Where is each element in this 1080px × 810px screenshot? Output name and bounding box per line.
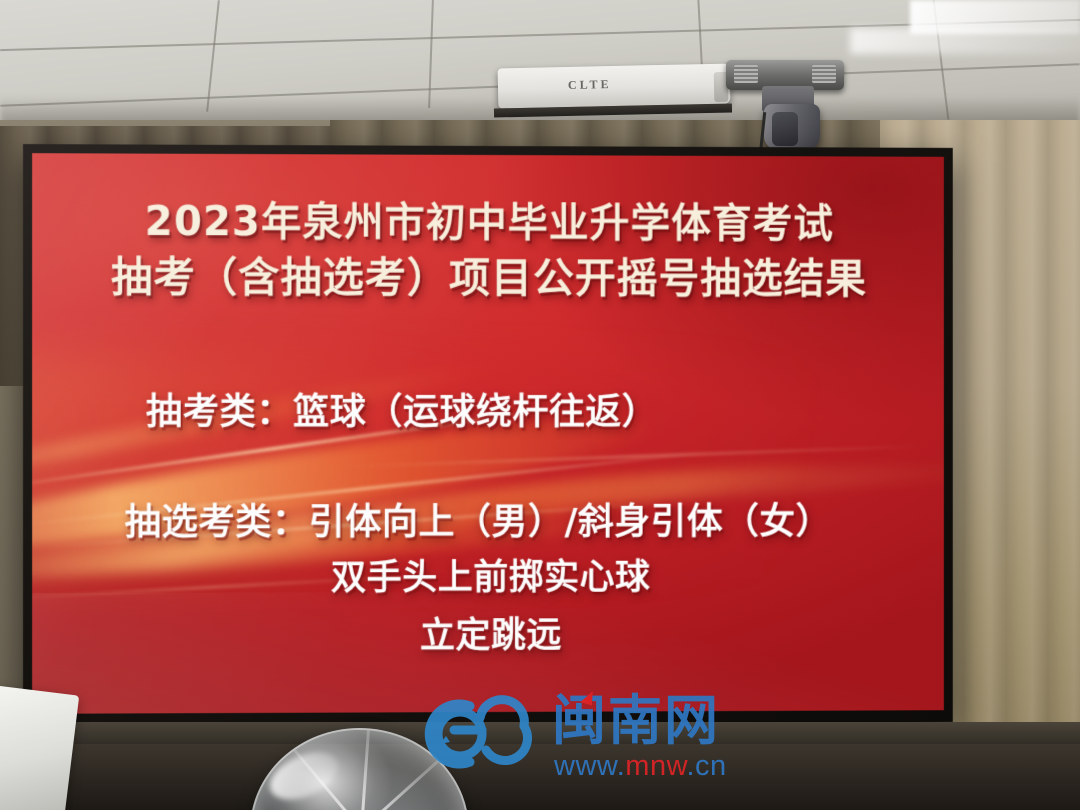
slide-section-chou-xuan-kao: 抽选考类：引体向上（男）/斜身引体（女） [32, 493, 944, 546]
watermark-url-suffix: .cn [686, 750, 726, 782]
slide-title-line-1: 2023年泉州市初中毕业升学体育考试 [32, 197, 944, 249]
slide-section-shi-xin-qiu: 双手头上前掷实心球 [32, 548, 944, 601]
display-screen: 2023年泉州市初中毕业升学体育考试 抽考（含抽选考）项目公开摇号抽选结果 抽考… [32, 153, 944, 714]
watermark-site-name: 闽南网 [552, 694, 720, 748]
drum-rib [360, 728, 371, 810]
slide-title: 2023年泉州市初中毕业升学体育考试 抽考（含抽选考）项目公开摇号抽选结果 [32, 197, 944, 303]
slide-content: 2023年泉州市初中毕业升学体育考试 抽考（含抽选考）项目公开摇号抽选结果 抽考… [32, 153, 944, 714]
watermark-url-prefix: www. [554, 750, 625, 782]
watermark: 闽南网 www.mnw.cn [424, 690, 724, 802]
foreground-paper-object [0, 685, 79, 810]
camera-vent-icon [812, 65, 836, 83]
slide-title-line-2: 抽考（含抽选考）项目公开摇号抽选结果 [32, 252, 944, 304]
photo-canvas: CLTE 2023年泉州市初中毕业升学 [0, 0, 1080, 810]
slide-section-chou-kao: 抽考类：篮球（运球绕杆往返） [32, 383, 944, 435]
watermark-url-brand: mnw [625, 750, 686, 782]
ceiling-light [850, 28, 1080, 54]
slide-section-li-ding-tiao-yuan: 立定跳远 [32, 606, 944, 660]
mnw-swirl-logo-icon [424, 692, 548, 774]
camera-vent-icon [734, 65, 758, 83]
projection-screen-roller: CLTE [498, 64, 731, 109]
roller-brand-label: CLTE [568, 77, 612, 93]
watermark-url: www.mnw.cn [554, 752, 727, 781]
display-bezel: 2023年泉州市初中毕业升学体育考试 抽考（含抽选考）项目公开摇号抽选结果 抽考… [23, 144, 953, 726]
camera-lens-icon [772, 112, 798, 146]
ceiling-seam [428, 0, 434, 108]
